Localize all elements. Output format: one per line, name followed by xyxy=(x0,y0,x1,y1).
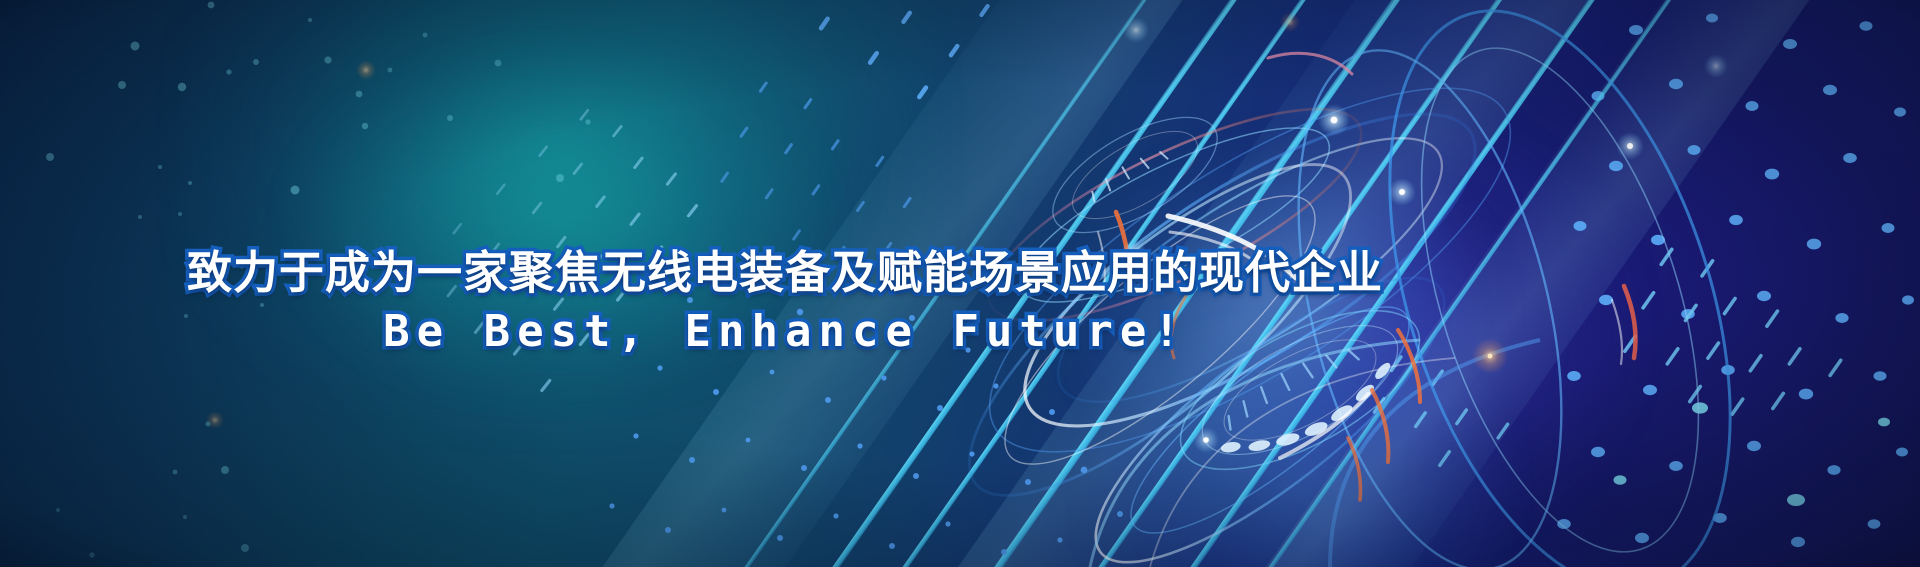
banner-text-block: 致力于成为一家聚焦无线电装备及赋能场景应用的现代企业 Be Best, Enha… xyxy=(0,248,1570,357)
headline-chinese: 致力于成为一家聚焦无线电装备及赋能场景应用的现代企业 xyxy=(0,248,1570,298)
hero-banner: 致力于成为一家聚焦无线电装备及赋能场景应用的现代企业 Be Best, Enha… xyxy=(0,0,1920,567)
headline-english: Be Best, Enhance Future! xyxy=(0,306,1570,357)
